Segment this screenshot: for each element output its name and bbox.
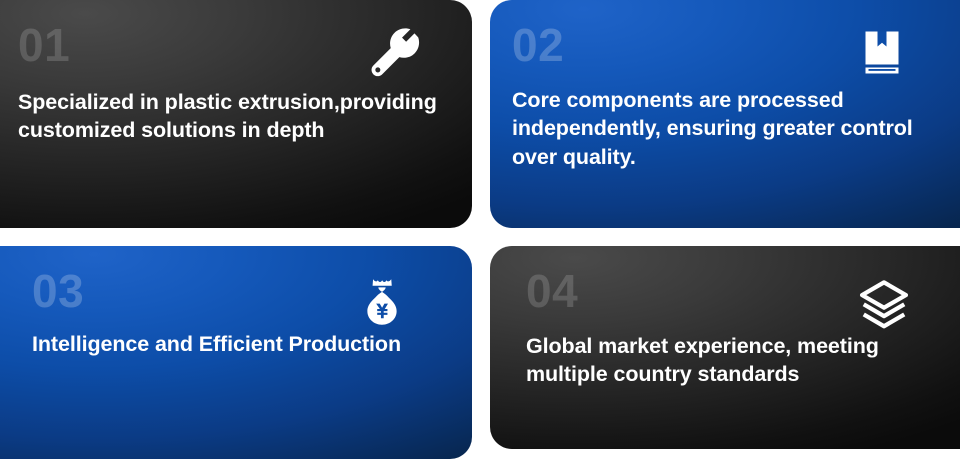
feature-card-01[interactable]: 01 Specialized in plastic extrusion,prov… <box>0 0 472 228</box>
card-content-04: 04 Global market experience, meeting mul… <box>526 268 940 427</box>
card-content-03: 03 Intelligence and Efficient Production <box>32 268 444 437</box>
card-text-01: Specialized in plastic extrusion,providi… <box>18 88 438 145</box>
layers-stack-icon <box>856 278 912 334</box>
card-text-04: Global market experience, meeting multip… <box>526 332 926 389</box>
card-text-02: Core components are processed independen… <box>512 86 940 171</box>
card-content-01: 01 Specialized in plastic extrusion,prov… <box>18 22 444 206</box>
card-text-03: Intelligence and Efficient Production <box>32 330 432 358</box>
money-bag-yen-icon <box>354 274 410 330</box>
feature-card-02[interactable]: 02 Core components are processed indepen… <box>490 0 960 228</box>
book-bookmark-icon <box>854 26 910 82</box>
feature-card-grid: 01 Specialized in plastic extrusion,prov… <box>0 0 960 459</box>
feature-card-03[interactable]: 03 Intelligence and Efficient Production <box>0 246 472 459</box>
card-content-02: 02 Core components are processed indepen… <box>512 22 940 206</box>
wrench-icon <box>366 26 422 82</box>
feature-card-04[interactable]: 04 Global market experience, meeting mul… <box>490 246 960 449</box>
